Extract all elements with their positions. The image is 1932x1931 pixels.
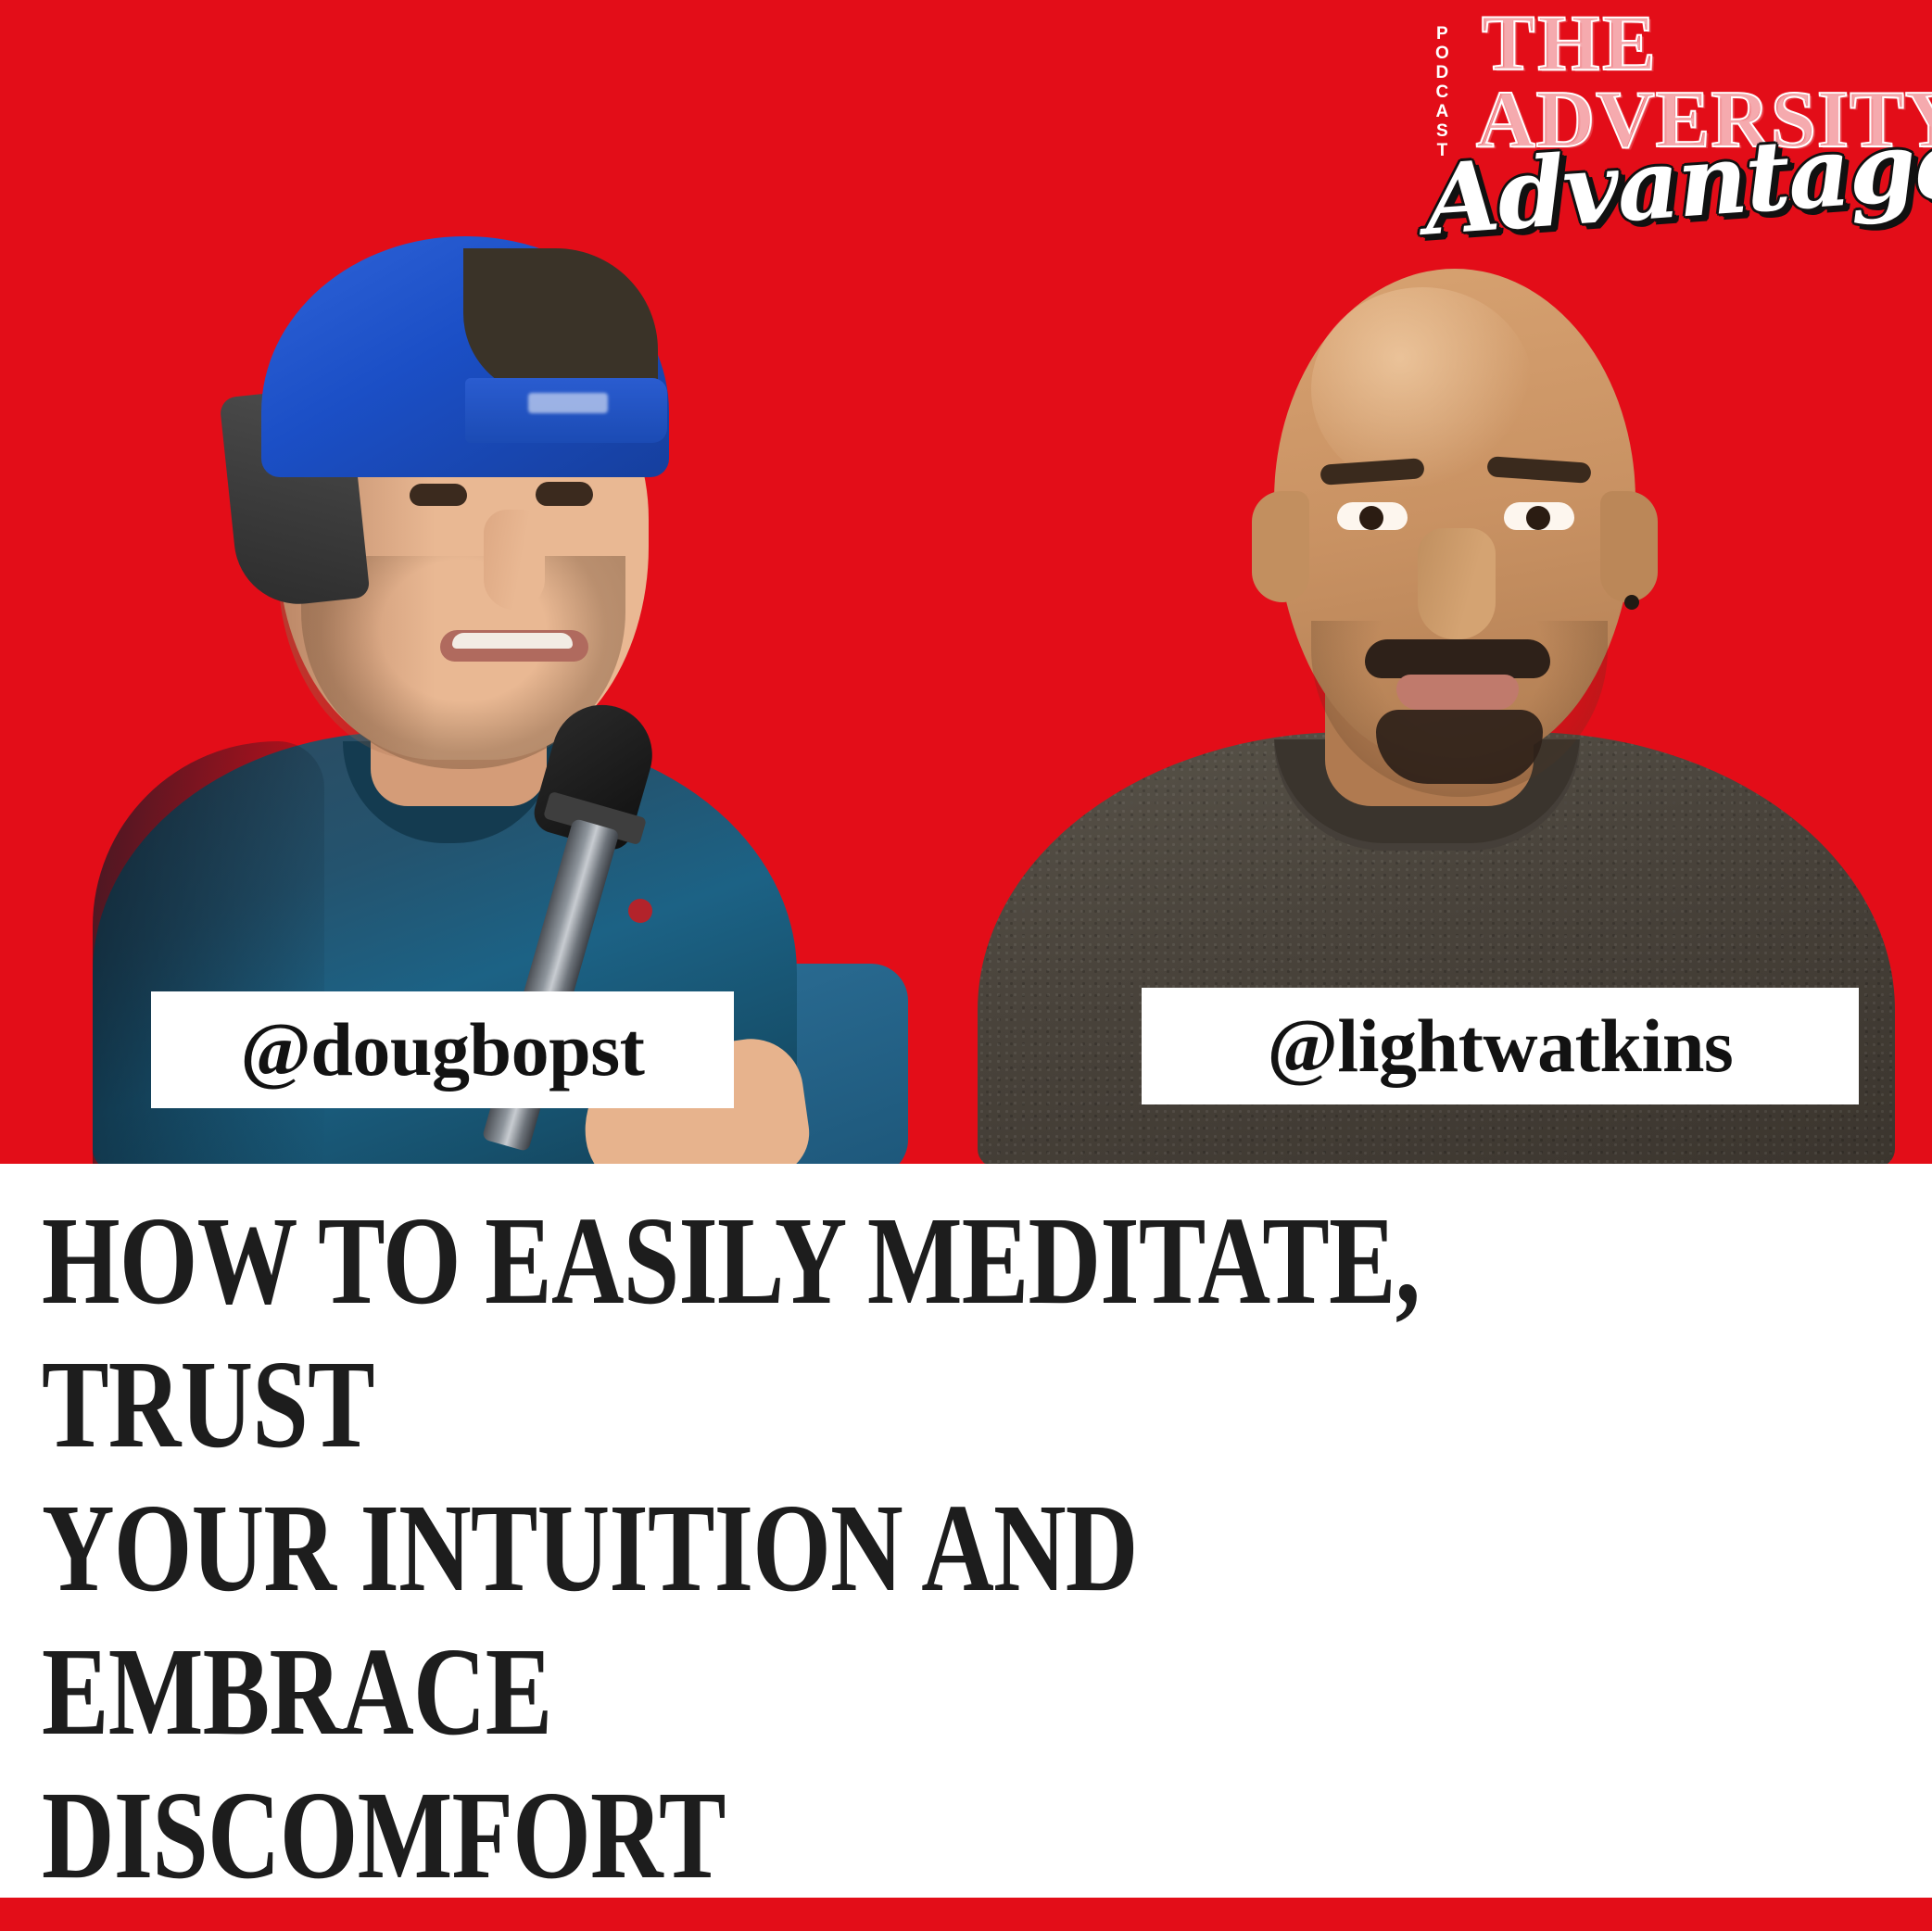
left-guest-eye-right [536,482,593,506]
photo-band: P O D C A S T THE ADVERSITY Advantage @d… [0,0,1932,1164]
episode-title: HOW TO EASILY MEDITATE, TRUST YOUR INTUI… [42,1190,1524,1908]
podcast-letter-p: P [1436,24,1449,44]
baseball-cap-opening [463,248,658,397]
right-guest-mustache [1365,639,1550,678]
right-guest-goatee [1376,710,1543,784]
right-guest-lips [1396,675,1519,710]
title-area: HOW TO EASILY MEDITATE, TRUST YOUR INTUI… [0,1164,1932,1898]
podcast-letter-d: D [1436,63,1450,82]
right-guest-ear-left [1252,491,1309,602]
left-guest-nose [484,510,545,610]
baseball-cap-logo [528,393,608,413]
left-guest-eye-left [410,484,467,506]
podcast-letter-a: A [1436,102,1450,121]
podcast-logo: P O D C A S T THE ADVERSITY Advantage [1430,4,1893,226]
podcast-kicker: P O D C A S T [1435,24,1450,160]
earring-icon [1624,595,1639,610]
logo-word-the: THE [1482,6,1659,82]
podcast-letter-c: C [1436,82,1450,102]
podcast-letter-s: S [1436,121,1449,141]
guest-handle-left[interactable]: @dougbopst [151,991,734,1108]
microphone-indicator [628,899,652,923]
podcast-letter-o: O [1435,44,1450,63]
left-guest-teeth [452,633,573,649]
right-guest-ear-right [1600,491,1658,602]
right-guest-pupil-left [1359,506,1383,530]
right-guest-pupil-right [1526,506,1550,530]
bottom-accent-bar [0,1898,1932,1931]
podcast-cover-art: P O D C A S T THE ADVERSITY Advantage @d… [0,0,1932,1931]
guest-handle-right[interactable]: @lightwatkins [1142,988,1859,1104]
